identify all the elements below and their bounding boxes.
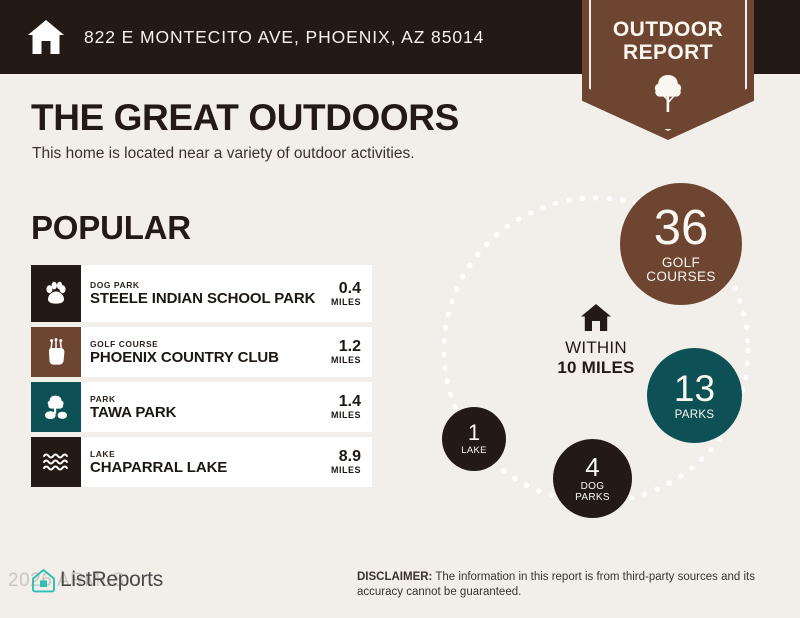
poi-category: PARK: [90, 394, 327, 405]
header-address: 822 E MONTECITO AVE, PHOENIX, AZ 85014: [84, 27, 484, 48]
house-outline-icon: [31, 568, 56, 593]
stat-label-line1: GOLF: [646, 256, 716, 270]
poi-text: DOG PARK STEELE INDIAN SCHOOL PARK: [81, 265, 327, 322]
poi-distance-unit: MILES: [331, 355, 361, 366]
poi-icon-box: [31, 437, 81, 487]
poi-distance-block: 1.4 MILES: [327, 382, 372, 432]
within-10-miles-diagram: 36 GOLF COURSES 13 PARKS 4 DOG PARKS 1 L…: [420, 175, 795, 545]
disclaimer: DISCLAIMER: The information in this repo…: [357, 570, 777, 600]
poi-name: TAWA PARK: [90, 405, 327, 421]
outdoor-report-badge: OUTDOOR REPORT: [582, 0, 754, 140]
poi-distance: 1.4: [339, 393, 361, 410]
tree-icon: [651, 73, 685, 113]
poi-distance: 0.4: [339, 280, 361, 297]
disclaimer-label: DISCLAIMER:: [357, 571, 432, 583]
poi-distance: 8.9: [339, 448, 361, 465]
home-icon: [580, 303, 612, 332]
stat-count: 4: [585, 454, 599, 480]
golf-bag-icon: [43, 338, 69, 366]
poi-icon-box: [31, 265, 81, 322]
poi-distance: 1.2: [339, 338, 361, 355]
poi-text: PARK TAWA PARK: [81, 382, 327, 432]
stat-bubble-parks: 13 PARKS: [647, 348, 742, 443]
trees-icon: [42, 394, 70, 420]
center-line2: 10 MILES: [536, 358, 656, 378]
poi-distance-block: 1.2 MILES: [327, 327, 372, 377]
poi-distance-block: 0.4 MILES: [327, 265, 372, 322]
list-item[interactable]: PARK TAWA PARK 1.4 MILES: [31, 382, 372, 432]
stat-count: 36: [654, 204, 709, 253]
list-item[interactable]: DOG PARK STEELE INDIAN SCHOOL PARK 0.4 M…: [31, 265, 372, 322]
badge-title-line2: REPORT: [582, 41, 754, 64]
page-subtitle: This home is located near a variety of o…: [32, 145, 415, 163]
badge-title: OUTDOOR REPORT: [582, 18, 754, 64]
poi-distance-unit: MILES: [331, 465, 361, 476]
stat-label-line2: PARKS: [575, 493, 610, 504]
poi-name: CHAPARRAL LAKE: [90, 460, 327, 476]
stat-bubble-lake: 1 LAKE: [442, 407, 506, 471]
poi-text: LAKE CHAPARRAL LAKE: [81, 437, 327, 487]
list-item[interactable]: GOLF COURSE PHOENIX COUNTRY CLUB 1.2 MIL…: [31, 327, 372, 377]
stat-label-line1: DOG: [575, 482, 610, 493]
poi-icon-box: [31, 382, 81, 432]
stat-count: 1: [468, 422, 480, 444]
poi-name: STEELE INDIAN SCHOOL PARK: [90, 291, 327, 307]
stat-label: PARKS: [675, 409, 715, 421]
poi-distance-unit: MILES: [331, 410, 361, 421]
page-title: THE GREAT OUTDOORS: [31, 97, 459, 139]
stat-bubble-dog-parks: 4 DOG PARKS: [553, 439, 632, 518]
water-waves-icon: [41, 451, 71, 473]
stat-label: GOLF COURSES: [646, 256, 716, 284]
poi-distance-unit: MILES: [331, 297, 361, 308]
poi-icon-box: [31, 327, 81, 377]
badge-title-line1: OUTDOOR: [582, 18, 754, 41]
stat-label-line2: COURSES: [646, 270, 716, 284]
paw-icon: [43, 281, 69, 307]
stat-label: DOG PARKS: [575, 482, 610, 503]
home-icon: [26, 18, 66, 56]
listreports-logo[interactable]: ListReports: [31, 566, 163, 594]
poi-category: GOLF COURSE: [90, 339, 327, 350]
center-line1: WITHIN: [536, 338, 656, 358]
listreports-logo-text: ListReports: [60, 568, 163, 592]
poi-distance-block: 8.9 MILES: [327, 437, 372, 487]
poi-text: GOLF COURSE PHOENIX COUNTRY CLUB: [81, 327, 327, 377]
list-item[interactable]: LAKE CHAPARRAL LAKE 8.9 MILES: [31, 437, 372, 487]
diagram-center-label: WITHIN 10 MILES: [536, 303, 656, 378]
stat-bubble-golf-courses: 36 GOLF COURSES: [620, 183, 742, 305]
poi-category: LAKE: [90, 449, 327, 460]
popular-heading: POPULAR: [31, 209, 191, 247]
poi-name: PHOENIX COUNTRY CLUB: [90, 350, 327, 366]
stat-count: 13: [674, 370, 715, 407]
popular-list: DOG PARK STEELE INDIAN SCHOOL PARK 0.4 M…: [31, 265, 372, 492]
stat-label: LAKE: [461, 446, 487, 456]
